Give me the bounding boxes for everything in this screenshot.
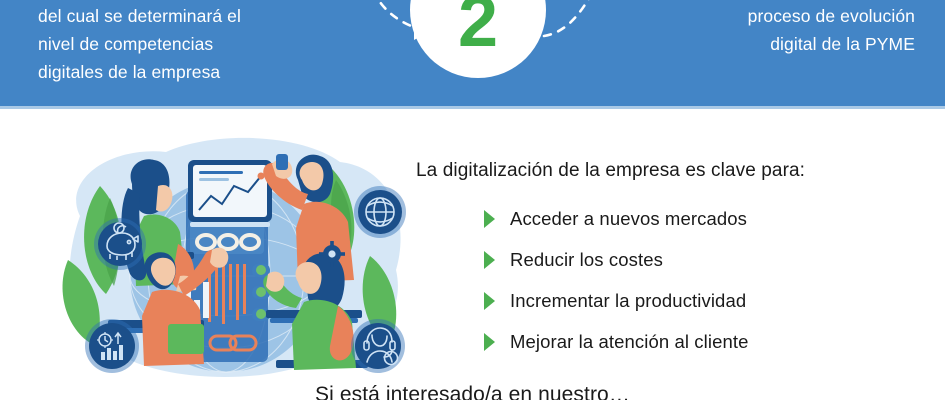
footer-text: Si está interesado/a en nuestro… <box>0 383 945 400</box>
banner-right-text: …g… proceso de evolución digital de la P… <box>748 0 915 58</box>
triangle-bullet-icon <box>484 210 495 228</box>
benefit-label: Incrementar la productividad <box>510 290 746 312</box>
benefit-label: Acceder a nuevos mercados <box>510 208 747 230</box>
list-item: Reducir los costes <box>484 239 924 280</box>
globe-icon <box>354 186 406 238</box>
banner-divider <box>0 106 945 109</box>
benefit-label: Reducir los costes <box>510 249 663 271</box>
digital-teamwork-illustration <box>40 124 422 386</box>
benefit-label: Mejorar la atención al cliente <box>510 331 749 353</box>
piggy-bank-icon <box>94 218 146 270</box>
triangle-bullet-icon <box>484 251 495 269</box>
list-item: Incrementar la productividad <box>484 280 924 321</box>
productivity-chart-icon <box>85 319 139 373</box>
lead-text: La digitalización de la empresa es clave… <box>416 160 805 182</box>
benefits-list: Acceder a nuevos mercados Reducir los co… <box>484 198 924 362</box>
step-number: 2 <box>458 0 498 58</box>
list-item: Mejorar la atención al cliente <box>484 321 924 362</box>
banner-left-text: del cual se determinará el nivel de comp… <box>38 2 241 86</box>
top-banner: del cual se determinará el nivel de comp… <box>0 0 945 106</box>
triangle-bullet-icon <box>484 333 495 351</box>
list-item: Acceder a nuevos mercados <box>484 198 924 239</box>
triangle-bullet-icon <box>484 292 495 310</box>
customer-support-headset-icon <box>351 319 405 373</box>
